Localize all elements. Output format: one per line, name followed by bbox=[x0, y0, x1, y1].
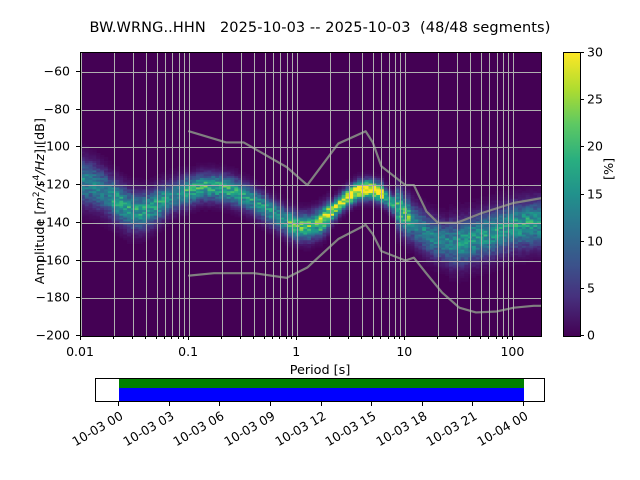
grid-line-horizontal bbox=[81, 110, 541, 111]
grid-line-vertical bbox=[362, 53, 363, 336]
x-axis-tick-minor bbox=[272, 336, 273, 339]
grid-line-vertical bbox=[189, 53, 190, 336]
x-axis-label: Period [s] bbox=[0, 363, 640, 378]
high-noise-model-curve bbox=[189, 131, 541, 223]
grid-line-vertical bbox=[373, 53, 374, 336]
timeline-tick bbox=[321, 402, 322, 406]
grid-line-vertical bbox=[481, 53, 482, 336]
colorbar-tick bbox=[580, 52, 584, 53]
timeline-tick bbox=[371, 402, 372, 406]
grid-line-vertical bbox=[470, 53, 471, 336]
x-axis-tick-minor bbox=[456, 336, 457, 339]
low-noise-model-curve bbox=[189, 225, 541, 313]
grid-line-vertical bbox=[133, 53, 134, 336]
grid-line-vertical bbox=[395, 53, 396, 336]
grid-line-vertical bbox=[179, 53, 180, 336]
grid-line-vertical bbox=[292, 53, 293, 336]
y-axis-label-hz: /Hz bbox=[33, 154, 48, 175]
y-axis-tick bbox=[76, 184, 80, 185]
grid-line-vertical bbox=[287, 53, 288, 336]
colorbar-tick-label: 0 bbox=[587, 328, 595, 343]
colorbar-tick bbox=[580, 146, 584, 147]
x-axis-tick-minor bbox=[264, 336, 265, 339]
grid-line-vertical bbox=[165, 53, 166, 336]
grid-line-vertical bbox=[349, 53, 350, 336]
y-axis-tick-label: −140 bbox=[8, 214, 70, 229]
x-axis-tick-major bbox=[296, 336, 297, 340]
grid-line-horizontal bbox=[81, 298, 541, 299]
x-axis-tick-major bbox=[512, 336, 513, 340]
timeline-tick bbox=[523, 402, 524, 406]
y-axis-tick bbox=[76, 297, 80, 298]
timeline-tick bbox=[219, 402, 220, 406]
y-axis-tick bbox=[76, 222, 80, 223]
grid-line-horizontal bbox=[81, 147, 541, 148]
x-axis-tick-minor bbox=[488, 336, 489, 339]
x-axis-tick-minor bbox=[361, 336, 362, 339]
x-axis-tick-minor bbox=[329, 336, 330, 339]
timeline-tick bbox=[169, 402, 170, 406]
grid-line-vertical bbox=[280, 53, 281, 336]
ppsd-axes[interactable] bbox=[80, 52, 542, 337]
grid-line-vertical bbox=[222, 53, 223, 336]
x-axis-tick-minor bbox=[221, 336, 222, 339]
x-axis-tick-minor bbox=[394, 336, 395, 339]
x-axis-tick-label: 1 bbox=[261, 344, 331, 359]
grid-line-vertical bbox=[381, 53, 382, 336]
x-axis-tick-minor bbox=[132, 336, 133, 339]
grid-line-vertical bbox=[503, 53, 504, 336]
grid-line-vertical bbox=[497, 53, 498, 336]
colorbar-tick bbox=[580, 194, 584, 195]
x-axis-tick-minor bbox=[469, 336, 470, 339]
y-axis-tick bbox=[76, 260, 80, 261]
y-axis-tick-label: −100 bbox=[8, 139, 70, 154]
grid-line-vertical bbox=[297, 53, 298, 336]
y-axis-tick-label: −80 bbox=[8, 101, 70, 116]
grid-line-vertical bbox=[172, 53, 173, 336]
data-coverage-green bbox=[119, 379, 524, 388]
figure-title: BW.WRNG..HHN 2025-10-03 -- 2025-10-03 (4… bbox=[0, 20, 640, 36]
grid-line-vertical bbox=[438, 53, 439, 336]
y-axis-tick-label: −60 bbox=[8, 63, 70, 78]
y-axis-tick-label: −120 bbox=[8, 177, 70, 192]
colorbar-tick-label: 20 bbox=[587, 139, 603, 154]
x-axis-tick-minor bbox=[171, 336, 172, 339]
grid-line-vertical bbox=[405, 53, 406, 336]
timeline-tick bbox=[422, 402, 423, 406]
grid-line-vertical bbox=[254, 53, 255, 336]
y-axis-tick bbox=[76, 71, 80, 72]
colorbar-unit-label: [%] bbox=[602, 158, 617, 180]
x-axis-tick-minor bbox=[496, 336, 497, 339]
x-axis-tick-minor bbox=[113, 336, 114, 339]
x-axis-tick-major bbox=[404, 336, 405, 340]
timeline-tick bbox=[270, 402, 271, 406]
grid-line-horizontal bbox=[81, 223, 541, 224]
x-axis-tick-major bbox=[188, 336, 189, 340]
y-axis-tick bbox=[76, 109, 80, 110]
x-axis-tick-minor bbox=[372, 336, 373, 339]
grid-line-vertical bbox=[114, 53, 115, 336]
x-axis-tick-minor bbox=[253, 336, 254, 339]
grid-line-vertical bbox=[81, 53, 82, 336]
colorbar-tick bbox=[580, 288, 584, 289]
y-axis-tick bbox=[76, 146, 80, 147]
grid-line-vertical bbox=[489, 53, 490, 336]
colorbar-tick-label: 30 bbox=[587, 45, 603, 60]
grid-line-vertical bbox=[508, 53, 509, 336]
x-axis-tick-minor bbox=[399, 336, 400, 339]
x-axis-tick-minor bbox=[183, 336, 184, 339]
x-axis-tick-label: 0.1 bbox=[153, 344, 223, 359]
x-axis-tick-minor bbox=[480, 336, 481, 339]
colorbar-tick-label: 10 bbox=[587, 233, 603, 248]
grid-line-vertical bbox=[457, 53, 458, 336]
x-axis-tick-minor bbox=[178, 336, 179, 339]
colorbar-tick-label: 25 bbox=[587, 92, 603, 107]
x-axis-tick-minor bbox=[279, 336, 280, 339]
x-axis-tick-minor bbox=[291, 336, 292, 339]
x-axis-tick-minor bbox=[437, 336, 438, 339]
timeline-axes[interactable] bbox=[95, 378, 545, 402]
y-axis-tick-label: −160 bbox=[8, 252, 70, 267]
x-axis-tick-minor bbox=[348, 336, 349, 339]
grid-line-vertical bbox=[513, 53, 514, 336]
x-axis-tick-minor bbox=[164, 336, 165, 339]
colorbar-tick bbox=[580, 99, 584, 100]
x-axis-tick-minor bbox=[156, 336, 157, 339]
y-axis-tick-label: −200 bbox=[8, 328, 70, 343]
grid-line-vertical bbox=[146, 53, 147, 336]
x-axis-tick-minor bbox=[388, 336, 389, 339]
grid-line-horizontal bbox=[81, 185, 541, 186]
x-axis-tick-minor bbox=[240, 336, 241, 339]
noise-model-curves bbox=[81, 53, 541, 336]
colorbar[interactable] bbox=[563, 52, 581, 337]
psd-coverage-blue bbox=[119, 388, 524, 401]
grid-line-vertical bbox=[273, 53, 274, 336]
grid-line-vertical bbox=[241, 53, 242, 336]
y-axis-tick-label: −180 bbox=[8, 290, 70, 305]
x-axis-tick-minor bbox=[502, 336, 503, 339]
colorbar-tick-label: 15 bbox=[587, 186, 603, 201]
y-axis-label-exp2: 2 bbox=[32, 191, 42, 197]
x-axis-tick-label: 0.01 bbox=[45, 344, 115, 359]
y-axis-label-m: m bbox=[33, 197, 48, 209]
grid-line-vertical bbox=[157, 53, 158, 336]
x-axis-tick-minor bbox=[507, 336, 508, 339]
colorbar-tick bbox=[580, 335, 584, 336]
grid-line-horizontal bbox=[81, 261, 541, 262]
y-axis-label: Amplitude [m2/s4/Hz] [dB] bbox=[32, 51, 48, 351]
x-axis-tick-label: 100 bbox=[477, 344, 547, 359]
grid-line-vertical bbox=[330, 53, 331, 336]
timeline-tick bbox=[472, 402, 473, 406]
colorbar-tick bbox=[580, 241, 584, 242]
ppsd-figure: BW.WRNG..HHN 2025-10-03 -- 2025-10-03 (4… bbox=[0, 0, 640, 480]
x-axis-tick-minor bbox=[380, 336, 381, 339]
x-axis-tick-major bbox=[80, 336, 81, 340]
x-axis-tick-label: 10 bbox=[369, 344, 439, 359]
grid-line-vertical bbox=[184, 53, 185, 336]
x-axis-tick-minor bbox=[286, 336, 287, 339]
grid-line-horizontal bbox=[81, 72, 541, 73]
grid-line-vertical bbox=[400, 53, 401, 336]
grid-line-vertical bbox=[265, 53, 266, 336]
grid-line-vertical bbox=[389, 53, 390, 336]
colorbar-tick-label: 5 bbox=[587, 280, 595, 295]
timeline-tick bbox=[118, 402, 119, 406]
x-axis-tick-minor bbox=[145, 336, 146, 339]
